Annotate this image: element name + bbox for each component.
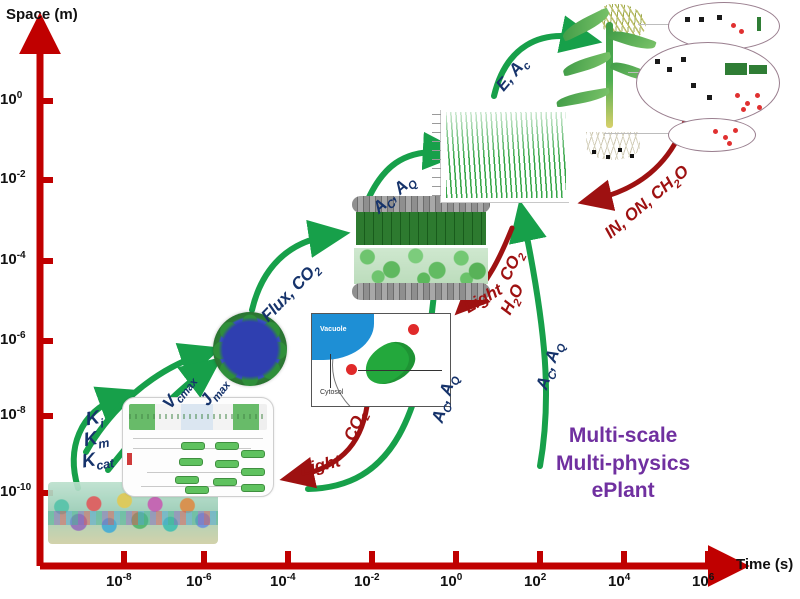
metabolite-square [667, 67, 672, 72]
leaf-cross-section-image [352, 196, 490, 300]
metabolite-dot [723, 135, 728, 140]
palisade-mesophyll [356, 212, 486, 245]
inset-axis [330, 354, 331, 388]
network-node [215, 460, 239, 468]
metabolite-dot [733, 128, 738, 133]
network-node [179, 458, 203, 466]
metabolite-dot [408, 324, 419, 335]
x-tick-3: 10-2 [354, 572, 380, 590]
network-node [185, 486, 209, 494]
canopy-axis-ticks [432, 114, 441, 198]
metabolite-square [655, 59, 660, 64]
root-metabolite-dot [606, 155, 610, 159]
network-node [215, 442, 239, 450]
network-node [213, 478, 237, 486]
metabolite-dot [735, 93, 740, 98]
x-tick-7: 106 [692, 572, 714, 590]
leaf-blade [555, 87, 610, 107]
vacuole-label: Vacuole [320, 326, 346, 333]
metabolite-square [691, 83, 696, 88]
callout-line-3: ePlant [556, 477, 690, 505]
y-tick-0: 100 [0, 90, 22, 108]
flux-bar [725, 63, 747, 75]
callout-line-2: Multi-physics [556, 450, 690, 478]
inset-axis [408, 370, 442, 371]
metabolite-dot [757, 105, 762, 110]
x-tick-2: 10-4 [270, 572, 296, 590]
metabolite-square [707, 95, 712, 100]
metabolic-network-image [122, 397, 274, 497]
root-metabolite-dot [618, 148, 622, 152]
inset-leader-line [604, 133, 672, 134]
callout-text: Multi-scale Multi-physics ePlant [556, 422, 690, 505]
metabolite-dot [727, 141, 732, 146]
flux-bar [749, 65, 767, 74]
y-tick-3: 10-6 [0, 330, 26, 348]
metabolite-dot [745, 101, 750, 106]
flux-bar [757, 17, 761, 31]
metabolite-dot [346, 364, 357, 375]
stem-metabolism-inset [668, 118, 756, 152]
x-tick-4: 100 [440, 572, 462, 590]
metabolite-dot [739, 29, 744, 34]
network-node [241, 468, 265, 476]
x-axis-title: Time (s) [736, 556, 793, 573]
metabolite-square [685, 17, 690, 22]
network-marker [127, 453, 132, 465]
thylakoid-strip [129, 404, 267, 430]
network-edge [133, 438, 263, 439]
y-tick-2: 10-4 [0, 250, 26, 268]
metabolite-dot [731, 23, 736, 28]
callout-line-1: Multi-scale [556, 422, 690, 450]
leaf-blade [561, 51, 612, 76]
cytosol-label: Cytosol [320, 389, 343, 396]
network-node [241, 450, 265, 458]
spongy-mesophyll [354, 248, 488, 284]
metabolite-dot [741, 107, 746, 112]
canopy-model-image [424, 106, 572, 210]
x-tick-0: 10-8 [106, 572, 132, 590]
metabolite-dot [713, 129, 718, 134]
figure-canvas: Space (m) Time (s) 100 10-2 10-4 10-6 10… [0, 0, 800, 599]
metabolite-square [681, 57, 686, 62]
x-tick-6: 104 [608, 572, 630, 590]
x-tick-5: 102 [524, 572, 546, 590]
cell-physiology-inset: Vacuole Cytosol [311, 313, 451, 407]
y-tick-1: 10-2 [0, 169, 26, 187]
x-axis [40, 551, 726, 566]
root-metabolite-dot [592, 150, 596, 154]
leaf-metabolism-inset [636, 42, 780, 124]
network-node [241, 484, 265, 492]
network-node [181, 442, 205, 450]
y-tick-5: 10-10 [0, 482, 31, 500]
metabolite-dot [755, 93, 760, 98]
canopy-leaf-blades [446, 112, 566, 198]
y-axis-title: Space (m) [6, 6, 78, 23]
network-node [175, 476, 199, 484]
root-metabolite-dot [630, 154, 634, 158]
y-tick-4: 10-8 [0, 405, 26, 423]
x-tick-1: 10-6 [186, 572, 212, 590]
metabolite-square [699, 17, 704, 22]
metabolite-square [717, 15, 722, 20]
